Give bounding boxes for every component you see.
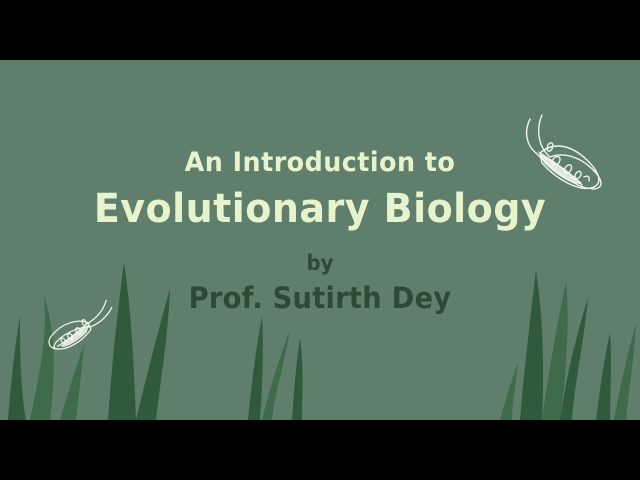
slide-canvas: An Introduction to Evolutionary Biology …: [0, 60, 640, 420]
title-slide: An Introduction to Evolutionary Biology …: [0, 0, 640, 480]
letterbox-top: [0, 0, 640, 60]
butterfly-icon: [510, 105, 630, 200]
letterbox-bottom: [0, 420, 640, 480]
butterfly-icon: [42, 292, 126, 358]
